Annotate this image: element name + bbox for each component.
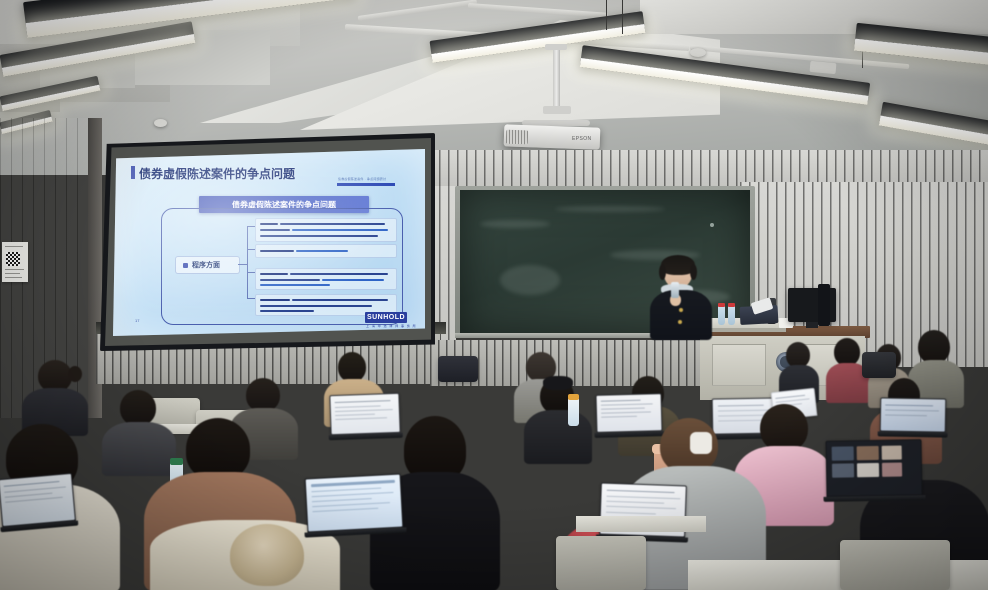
speaker-button bbox=[679, 308, 683, 312]
slide-logo: SUNHOLD bbox=[365, 312, 407, 323]
chair-back bbox=[438, 356, 478, 382]
slide-connector-tick bbox=[247, 226, 255, 227]
monitor-side-device bbox=[818, 284, 830, 326]
bottle-cap bbox=[728, 303, 735, 307]
bottle-cap bbox=[568, 394, 579, 400]
hair-claw-clip bbox=[690, 432, 712, 454]
qr-poster bbox=[2, 242, 28, 282]
chair-back bbox=[862, 352, 896, 378]
slide-category-chip: 程序方面 bbox=[175, 256, 240, 274]
student-laptop[interactable] bbox=[826, 439, 923, 497]
speaker-hair-side bbox=[690, 264, 697, 280]
projector-ceiling-plate bbox=[545, 44, 567, 50]
water-bottle bbox=[728, 305, 735, 325]
slide-page-number: 17 bbox=[135, 318, 139, 323]
light-hanger bbox=[622, 0, 623, 34]
slide-title: 债券虚假陈述案件的争点问题 bbox=[139, 165, 295, 182]
lecture-hall-photo: EPSON 债券虚假陈述案件的争点问题 债券虚假陈述案件 · 争点问题研讨 bbox=[0, 0, 988, 590]
speaker-hair-side bbox=[659, 264, 666, 280]
slide-connector-tick bbox=[238, 264, 248, 265]
bottle-cap bbox=[718, 303, 725, 307]
bottle-cap bbox=[170, 458, 183, 465]
slide-row bbox=[255, 218, 397, 242]
student-desk bbox=[576, 516, 706, 532]
slide-logo-subtitle: 上 海 申 浩 律 师 事 务 所 bbox=[366, 324, 417, 328]
slide-mini-header-bar bbox=[337, 183, 395, 186]
ceiling-panel bbox=[640, 0, 988, 34]
podium-panel bbox=[712, 344, 766, 386]
student-laptop[interactable] bbox=[329, 393, 400, 435]
slide-connector-tick bbox=[247, 298, 255, 299]
student-laptop[interactable] bbox=[880, 397, 947, 432]
presentation-slide: 债券虚假陈述案件的争点问题 债券虚假陈述案件 · 争点问题研讨 债券虚假陈述案件… bbox=[113, 148, 425, 336]
qr-code-icon bbox=[6, 252, 20, 266]
smoke-detector-icon bbox=[154, 119, 167, 127]
microphone bbox=[671, 282, 679, 298]
slide-connector-tick bbox=[247, 272, 255, 273]
slide-row bbox=[255, 268, 397, 290]
chair-back bbox=[840, 540, 950, 590]
slide-logo-text: SUNHOLD bbox=[367, 314, 405, 321]
bullet-square-icon bbox=[183, 263, 188, 268]
projector-vent bbox=[506, 130, 528, 145]
water-bottle bbox=[718, 305, 725, 325]
projector-brand-label: EPSON bbox=[572, 136, 592, 142]
slide-row bbox=[255, 244, 397, 258]
student-laptop[interactable] bbox=[0, 473, 76, 527]
student-laptop[interactable] bbox=[596, 393, 663, 433]
student-laptop[interactable] bbox=[305, 474, 404, 533]
projector-mount-bracket bbox=[543, 106, 571, 114]
chair-back bbox=[556, 536, 646, 590]
hair-clip bbox=[543, 376, 573, 390]
speaker-presenter bbox=[650, 258, 716, 338]
slide-category-label: 程序方面 bbox=[192, 260, 220, 270]
water-bottle bbox=[568, 398, 579, 426]
fur-trimmed-hood bbox=[230, 524, 304, 586]
slide-connector-tick bbox=[247, 249, 255, 250]
slide-connector-line bbox=[247, 226, 248, 298]
smoke-detector-icon bbox=[690, 48, 706, 57]
projector-mount-pole bbox=[553, 48, 560, 110]
slide-title-accent-bar bbox=[131, 166, 135, 179]
light-hanger bbox=[606, 0, 607, 30]
speaker-body bbox=[650, 290, 712, 340]
slide-mini-header: 债券虚假陈述案件 · 争点问题研讨 bbox=[338, 177, 386, 181]
speaker-button bbox=[678, 320, 682, 324]
ceiling-speaker bbox=[810, 61, 837, 74]
